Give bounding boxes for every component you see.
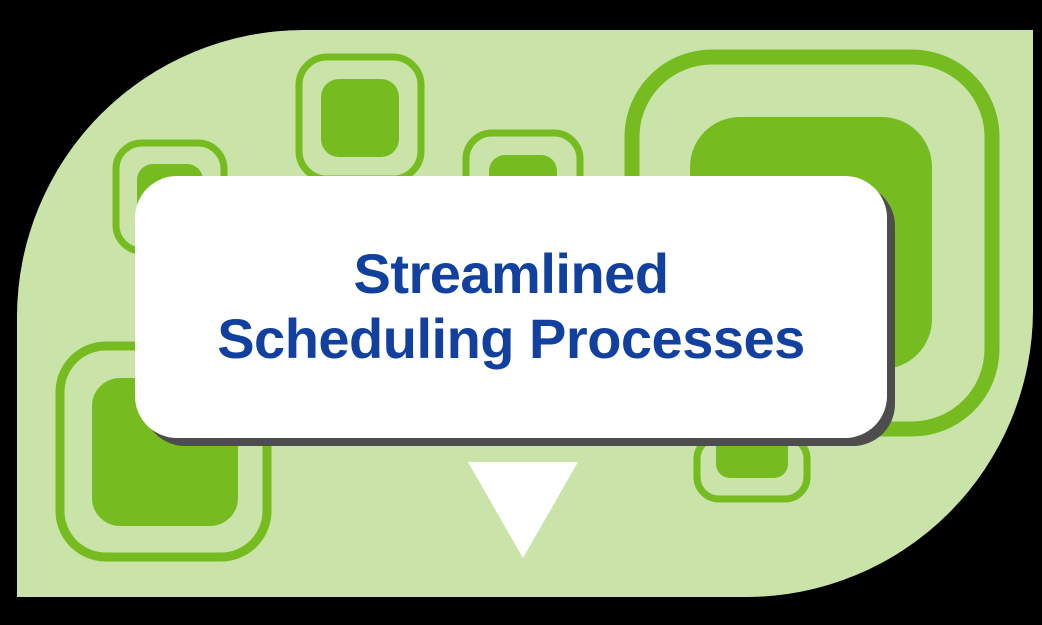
graphic-canvas: Streamlined Scheduling Processes [0,0,1042,625]
card-title-line-2: Scheduling Processes [217,307,805,372]
title-card: Streamlined Scheduling Processes [135,176,887,438]
card-title-line-1: Streamlined [353,242,668,307]
